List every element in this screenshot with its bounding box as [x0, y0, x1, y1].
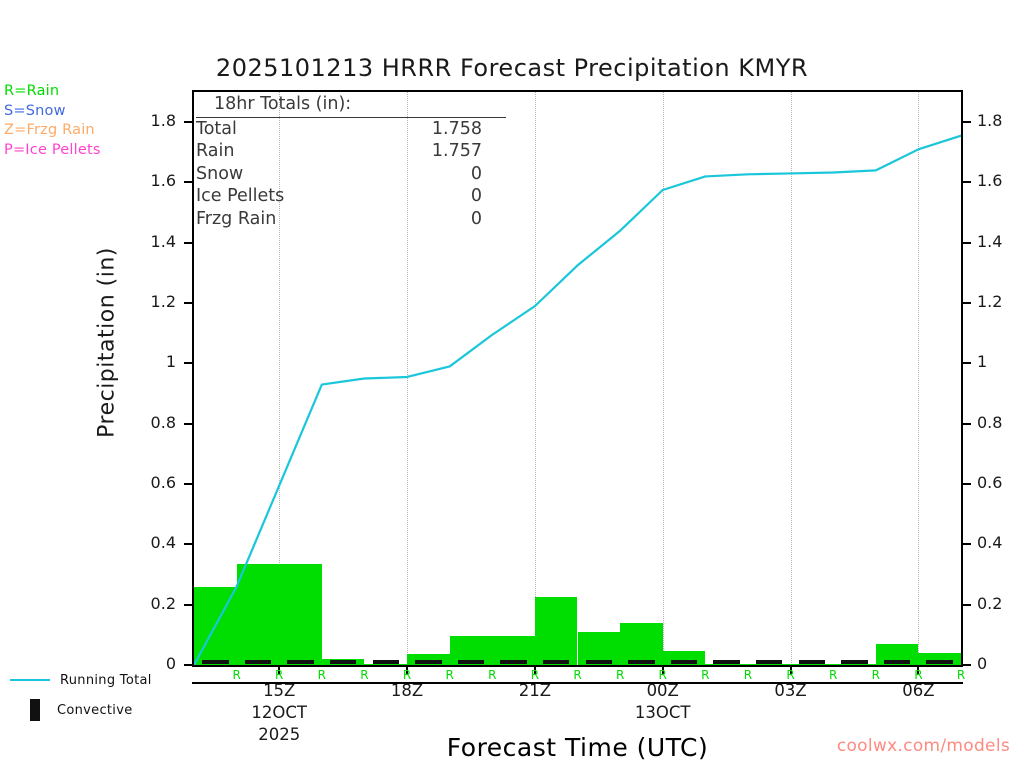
totals-label: Snow — [196, 163, 243, 186]
hour-precip-type-marker: R — [564, 668, 592, 682]
totals-label: Total — [196, 118, 237, 141]
hour-precip-type-marker: R — [649, 668, 677, 682]
x-tick-mark — [406, 667, 408, 675]
totals-label: Ice Pellets — [196, 185, 284, 208]
hour-precip-type-marker: R — [223, 668, 251, 682]
y-tick-mark-right — [963, 181, 971, 183]
totals-row-frzg-rain: Frzg Rain 0 — [196, 208, 506, 231]
x-axis-rule — [192, 682, 963, 684]
y-tick-mark-left — [184, 483, 192, 485]
totals-heading: 18hr Totals (in): — [196, 93, 506, 118]
y-tick-label-right: 0.6 — [977, 473, 1002, 492]
y-tick-mark-left — [184, 302, 192, 304]
x-tick-mark — [662, 667, 664, 675]
y-tick-mark-left — [184, 423, 192, 425]
legend-label: Convective — [57, 703, 133, 718]
y-tick-mark-right — [963, 483, 971, 485]
box-swatch-icon — [30, 699, 40, 721]
y-tick-mark-left — [184, 362, 192, 364]
hour-precip-type-marker: R — [478, 668, 506, 682]
y-tick-label-left: 0.4 — [114, 533, 176, 552]
y-tick-label-left: 1.8 — [114, 111, 176, 130]
y-tick-label-left: 1.4 — [114, 232, 176, 251]
y-axis-title: Precipitation (in) — [95, 203, 120, 483]
y-tick-mark-right — [963, 362, 971, 364]
y-tick-label-right: 0.4 — [977, 533, 1002, 552]
totals-value: 0 — [471, 185, 506, 208]
totals-value: 1.758 — [432, 118, 506, 141]
watermark: coolwx.com/models — [837, 736, 1010, 756]
legend-label: Running Total — [60, 673, 152, 688]
y-tick-label-right: 1.8 — [977, 111, 1002, 130]
y-tick-label-left: 0.6 — [114, 473, 176, 492]
x-tick-mark — [790, 667, 792, 675]
totals-value: 0 — [471, 208, 506, 231]
totals-value: 0 — [471, 163, 506, 186]
y-tick-label-right: 0.2 — [977, 594, 1002, 613]
y-tick-label-right: 0.8 — [977, 413, 1002, 432]
line-swatch-icon — [10, 679, 50, 681]
x-tick-sublabel: 12OCT — [234, 703, 324, 722]
y-tick-mark-left — [184, 664, 192, 666]
hour-precip-type-marker: R — [819, 668, 847, 682]
y-tick-label-left: 0.8 — [114, 413, 176, 432]
y-tick-mark-right — [963, 302, 971, 304]
legend-convective: Convective — [10, 695, 152, 725]
y-tick-label-right: 1.4 — [977, 232, 1002, 251]
y-tick-mark-left — [184, 543, 192, 545]
hour-precip-type-marker: R — [734, 668, 762, 682]
totals-row-total: Total 1.758 — [196, 118, 506, 141]
x-tick-label: 00Z — [618, 681, 708, 700]
x-tick-mark — [534, 667, 536, 675]
y-tick-mark-left — [184, 181, 192, 183]
y-tick-label-right: 1.6 — [977, 171, 1002, 190]
hour-precip-type-marker: R — [436, 668, 464, 682]
x-tick-label: 15Z — [234, 681, 324, 700]
y-tick-mark-right — [963, 121, 971, 123]
hour-precip-type-marker: R — [350, 668, 378, 682]
hour-precip-type-marker: R — [691, 668, 719, 682]
y-tick-label-left: 1.2 — [114, 292, 176, 311]
legend-rain: R=Rain — [4, 82, 101, 102]
y-tick-mark-right — [963, 664, 971, 666]
hour-precip-type-marker: R — [904, 668, 932, 682]
hour-precip-type-marker: R — [308, 668, 336, 682]
hour-precip-type-marker: R — [947, 668, 975, 682]
hour-precip-type-marker: R — [265, 668, 293, 682]
legend-frzg-rain: Z=Frzg Rain — [4, 121, 101, 141]
x-tick-label: 03Z — [746, 681, 836, 700]
x-tick-label: 06Z — [873, 681, 963, 700]
y-tick-mark-right — [963, 242, 971, 244]
y-tick-label-left: 1.6 — [114, 171, 176, 190]
y-tick-mark-left — [184, 121, 192, 123]
totals-row-ice-pellets: Ice Pellets 0 — [196, 185, 506, 208]
y-tick-label-left: 0.2 — [114, 594, 176, 613]
precip-type-legend: R=Rain S=Snow Z=Frzg Rain P=Ice Pellets — [4, 82, 101, 160]
y-tick-mark-right — [963, 423, 971, 425]
x-tick-mark — [917, 667, 919, 675]
y-tick-mark-right — [963, 543, 971, 545]
page-title: 2025101213 HRRR Forecast Precipitation K… — [0, 54, 1024, 82]
y-tick-mark-left — [184, 604, 192, 606]
x-tick-label: 18Z — [362, 681, 452, 700]
totals-row-rain: Rain 1.757 — [196, 140, 506, 163]
x-tick-mark — [278, 667, 280, 675]
hour-precip-type-marker: R — [606, 668, 634, 682]
legend-snow: S=Snow — [4, 102, 101, 122]
hour-precip-type-marker: R — [777, 668, 805, 682]
totals-row-snow: Snow 0 — [196, 163, 506, 186]
totals-value: 1.757 — [432, 140, 506, 163]
x-tick-sublabel: 13OCT — [618, 703, 708, 722]
y-tick-mark-right — [963, 604, 971, 606]
y-tick-label-right: 0 — [977, 654, 987, 673]
legend-ice-pellets: P=Ice Pellets — [4, 141, 101, 161]
legend-running-total: Running Total — [10, 665, 152, 695]
series-legend: Running Total Convective — [10, 665, 152, 725]
y-tick-label-right: 1 — [977, 352, 987, 371]
totals-label: Frzg Rain — [196, 208, 276, 231]
y-tick-label-right: 1.2 — [977, 292, 1002, 311]
hour-precip-type-marker: R — [521, 668, 549, 682]
y-tick-mark-left — [184, 242, 192, 244]
hour-precip-type-marker: R — [393, 668, 421, 682]
y-tick-label-left: 1 — [114, 352, 176, 371]
x-tick-label: 21Z — [490, 681, 580, 700]
hour-precip-type-marker: R — [862, 668, 890, 682]
totals-box: 18hr Totals (in): Total 1.758 Rain 1.757… — [196, 93, 506, 230]
totals-label: Rain — [196, 140, 234, 163]
